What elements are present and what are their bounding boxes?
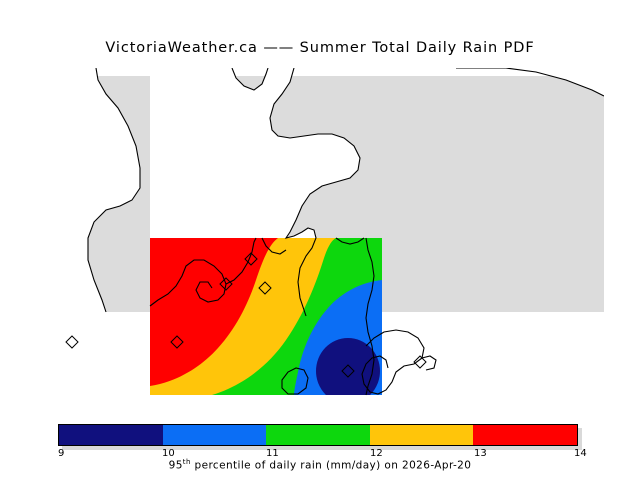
colorbar-caption: 95th percentile of daily rain (mm/day) o… xyxy=(0,458,640,472)
colorbar-band-13-14[interactable] xyxy=(473,425,577,445)
colorbar-bands[interactable] xyxy=(58,424,578,446)
contour-band-navy xyxy=(316,338,380,404)
caption-text: percentile of daily rain (mm/day) on 202… xyxy=(191,460,472,472)
colorbar[interactable] xyxy=(58,424,582,450)
rainfall-contour-field xyxy=(150,238,382,404)
caption-percentile-number: 95 xyxy=(169,460,183,472)
colorbar-band-9-10[interactable] xyxy=(59,425,163,445)
colorbar-band-10-11[interactable] xyxy=(163,425,267,445)
page-title: VictoriaWeather.ca —— Summer Total Daily… xyxy=(0,40,640,56)
colorbar-band-11-12[interactable] xyxy=(266,425,370,445)
weather-map-page: VictoriaWeather.ca —— Summer Total Daily… xyxy=(0,0,640,480)
caption-ordinal-suffix: th xyxy=(183,458,191,466)
map-plot-area[interactable] xyxy=(36,60,604,412)
colorbar-band-12-13[interactable] xyxy=(370,425,474,445)
